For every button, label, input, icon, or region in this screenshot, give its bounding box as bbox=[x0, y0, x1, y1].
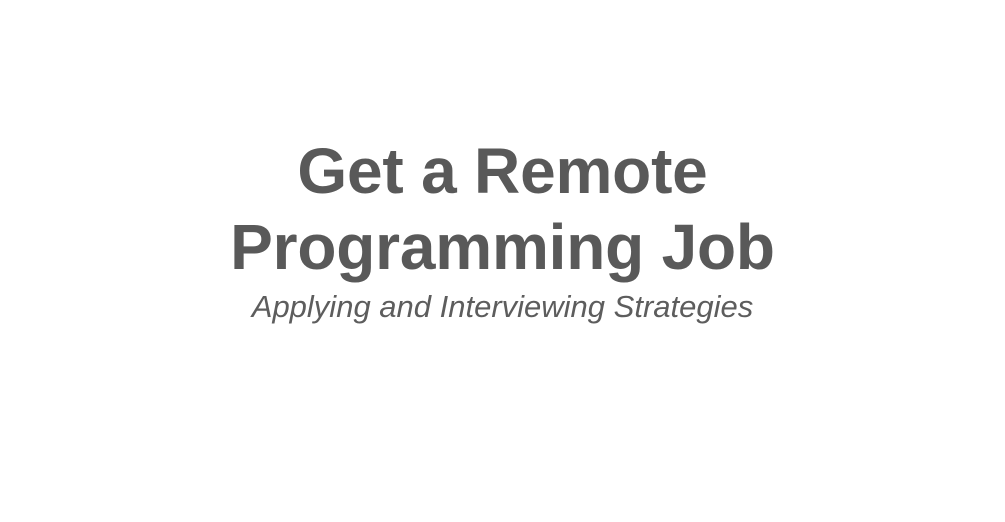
slide-title: Get a Remote Programming Job bbox=[0, 134, 1005, 286]
title-slide: Get a Remote Programming Job Applying an… bbox=[0, 0, 1005, 522]
slide-subtitle: Applying and Interviewing Strategies bbox=[0, 286, 1005, 325]
title-block: Get a Remote Programming Job Applying an… bbox=[0, 0, 1005, 325]
